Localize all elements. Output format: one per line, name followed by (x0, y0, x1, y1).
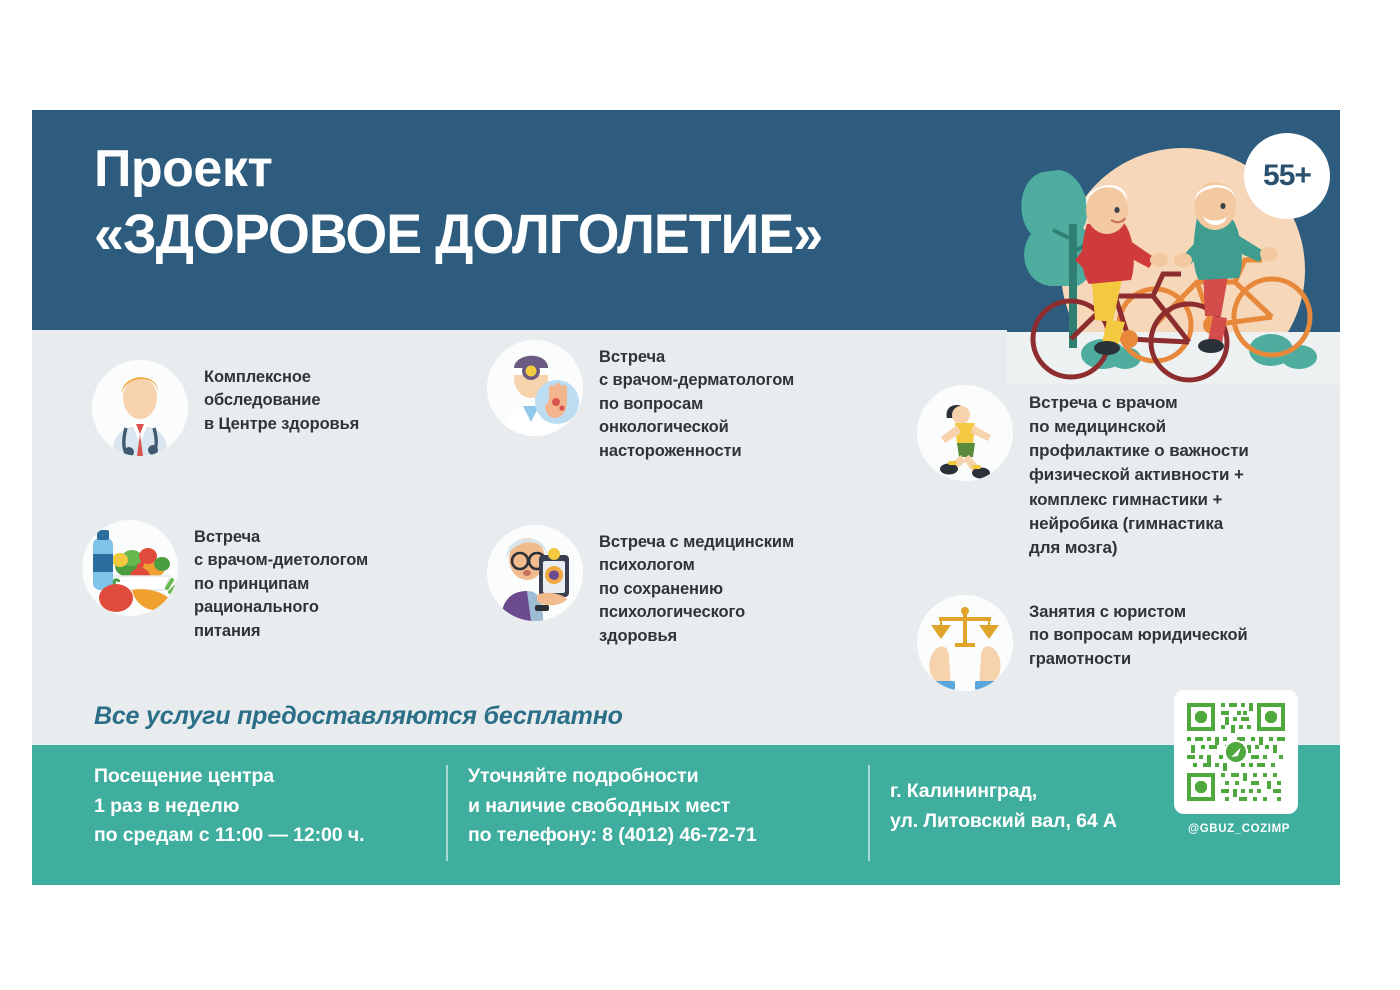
dermatologist-icon (487, 340, 583, 436)
service-item-lawyer: Занятия с юристом по вопросам юридическо… (917, 595, 1327, 691)
running-person-icon (917, 385, 1013, 481)
scales-of-justice-icon (917, 595, 1013, 691)
footer-divider-1 (446, 765, 448, 861)
footer-schedule: Посещение центра 1 раз в неделю по среда… (94, 762, 434, 851)
qr-handle-label: @GBUZ_COZIMP (1174, 823, 1304, 835)
age-badge: 55+ (1244, 133, 1330, 219)
poster-footer: Посещение центра 1 раз в неделю по среда… (32, 745, 1340, 885)
service-label: Встреча с медицинским психологом по сохр… (599, 525, 794, 648)
service-label: Встреча с врачом-диетологом по принципам… (194, 520, 368, 643)
service-label: Занятия с юристом по вопросам юридическо… (1029, 595, 1248, 671)
doctor-stethoscope-icon (92, 360, 188, 456)
title-line-1: Проект (94, 142, 853, 197)
service-label: Встреча с врачом по медицинской профилак… (1029, 385, 1249, 560)
page-title: Проект «ЗДОРОВОЕ ДОЛГОЛЕТИЕ» (94, 142, 853, 263)
title-line-2: «ЗДОРОВОЕ ДОЛГОЛЕТИЕ» (94, 205, 822, 264)
footer-contact-phone: Уточняйте подробности и наличие свободны… (468, 762, 868, 851)
footer-address: г. Калининград, ул. Литовский вал, 64 А (890, 777, 1190, 836)
free-services-notice: Все услуги предоставляются бесплатно (94, 702, 623, 731)
qr-block: @GBUZ_COZIMP (1174, 690, 1304, 835)
service-item-complex-examination: Комплексное обследование в Центре здоров… (92, 360, 492, 456)
service-label: Комплексное обследование в Центре здоров… (204, 360, 359, 436)
service-item-nutritionist: Встреча с врачом-диетологом по принципам… (82, 520, 492, 643)
services-list: Комплексное обследование в Центре здоров… (32, 330, 1340, 750)
poster-header: Проект «ЗДОРОВОЕ ДОЛГОЛЕТИЕ» (32, 110, 1340, 330)
service-item-dermatologist: Встреча с врачом-дерматологом по вопроса… (487, 340, 907, 463)
qr-code-icon[interactable] (1174, 690, 1298, 814)
poster-root: Проект «ЗДОРОВОЕ ДОЛГОЛЕТИЕ» (32, 110, 1340, 885)
elderly-psychologist-icon (487, 525, 583, 621)
service-label: Встреча с врачом-дерматологом по вопроса… (599, 340, 794, 463)
service-item-physical-activity: Встреча с врачом по медицинской профилак… (917, 385, 1327, 560)
service-item-psychologist: Встреча с медицинским психологом по сохр… (487, 525, 907, 648)
healthy-food-icon (82, 520, 178, 616)
footer-divider-2 (868, 765, 870, 861)
